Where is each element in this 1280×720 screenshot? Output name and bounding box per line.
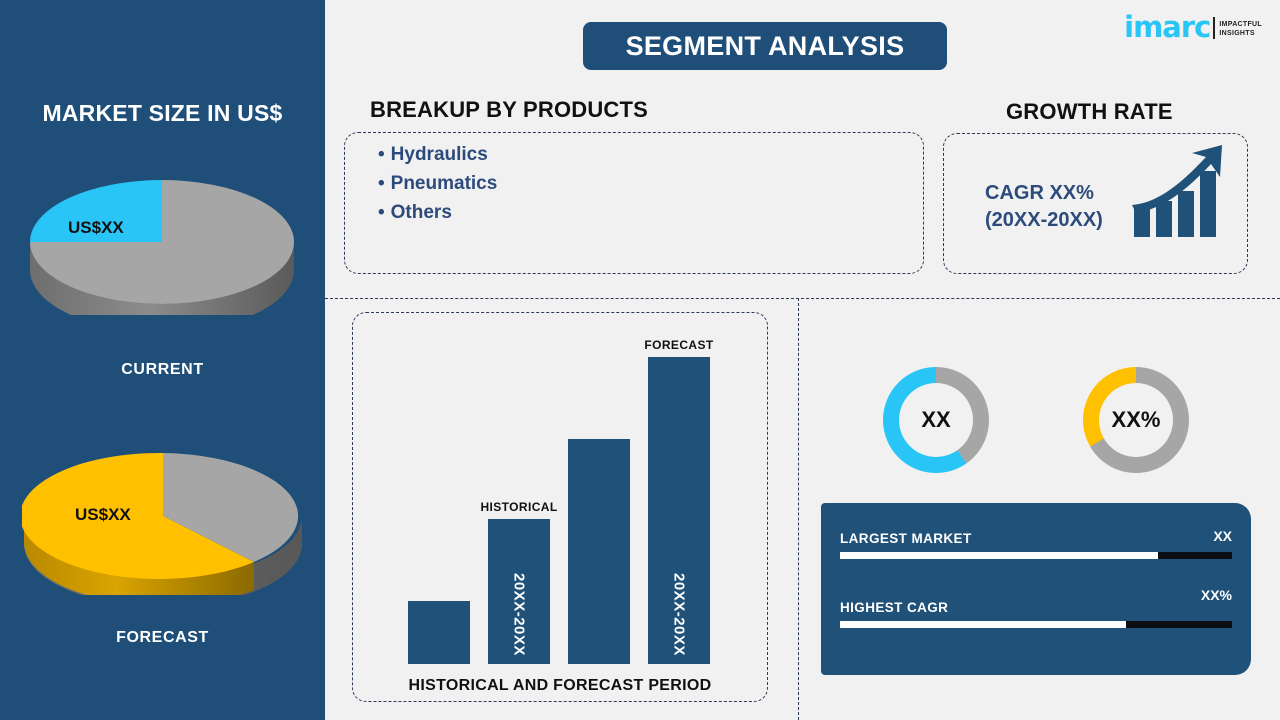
product-label: Others <box>391 202 452 223</box>
bar-period-label: 20XX-20XX <box>511 573 528 656</box>
vertical-divider <box>798 298 799 720</box>
progress-fill <box>840 621 1126 628</box>
table-row <box>568 439 630 664</box>
kpi-value: XX <box>1213 528 1232 544</box>
forecast-annotation: FORECAST <box>638 338 720 352</box>
list-item[interactable]: •Hydraulics <box>378 140 497 169</box>
current-pie-value: US$XX <box>68 218 124 238</box>
list-item[interactable]: •Pneumatics <box>378 169 497 198</box>
kpi-panel: LARGEST MARKET XX HIGHEST CAGR XX% <box>821 503 1251 675</box>
forecast-pie-caption: FORECAST <box>0 629 325 647</box>
growth-arrow-bars-icon <box>1130 143 1230 248</box>
page-title: SEGMENT ANALYSIS <box>626 31 905 62</box>
logo-divider <box>1213 17 1215 39</box>
bullet-icon: • <box>378 173 385 194</box>
table-row: 20XX-20XX <box>488 519 550 664</box>
products-heading: BREAKUP BY PRODUCTS <box>370 97 648 123</box>
progress-track <box>840 552 1232 559</box>
product-label: Pneumatics <box>391 173 498 194</box>
kpi-largest-market: LARGEST MARKET XX <box>840 530 1232 559</box>
progress-track <box>840 621 1232 628</box>
largest-market-donut: XX <box>883 367 989 473</box>
logo-wordmark: imarc <box>1124 14 1210 42</box>
pie-forecast-svg <box>22 443 304 595</box>
chart-x-axis-label: HISTORICAL AND FORECAST PERIOD <box>352 677 768 695</box>
pie-current-svg <box>28 170 296 315</box>
largest-market-donut-value: XX <box>921 407 950 433</box>
product-label: Hydraulics <box>391 144 488 165</box>
products-list: •Hydraulics •Pneumatics •Others <box>378 140 497 227</box>
bullet-icon: • <box>378 202 385 223</box>
cagr-text: CAGR XX% (20XX-20XX) <box>985 180 1103 234</box>
kpi-label: HIGHEST CAGR <box>840 600 948 615</box>
logo-tagline-line2: INSIGHTS <box>1219 29 1262 38</box>
imarc-logo: imarc IMPACTFUL INSIGHTS <box>1124 14 1262 42</box>
forecast-pie-value: US$XX <box>75 505 131 525</box>
cagr-line-2: (20XX-20XX) <box>985 207 1103 234</box>
bullet-icon: • <box>378 144 385 165</box>
market-size-sidebar: MARKET SIZE IN US$ US$XX CU <box>0 0 325 720</box>
table-row: 20XX-20XX <box>648 357 710 664</box>
infographic-slide: MARKET SIZE IN US$ US$XX CU <box>0 0 1280 720</box>
historical-annotation: HISTORICAL <box>476 500 562 514</box>
page-title-banner: SEGMENT ANALYSIS <box>583 22 947 70</box>
progress-fill <box>840 552 1158 559</box>
sidebar-title: MARKET SIZE IN US$ <box>0 100 325 127</box>
kpi-label: LARGEST MARKET <box>840 531 972 546</box>
growth-rate-heading: GROWTH RATE <box>1006 99 1173 125</box>
logo-tagline-line1: IMPACTFUL <box>1219 20 1262 29</box>
bar-period-text: 20XX-20XX <box>671 573 688 656</box>
highest-cagr-donut: XX% <box>1083 367 1189 473</box>
list-item[interactable]: •Others <box>378 198 497 227</box>
logo-tagline: IMPACTFUL INSIGHTS <box>1219 20 1262 39</box>
table-row <box>408 601 470 664</box>
kpi-value: XX% <box>1201 587 1232 603</box>
kpi-highest-cagr: HIGHEST CAGR XX% <box>840 599 1232 628</box>
bar-period-label: 20XX-20XX <box>671 573 688 656</box>
cagr-line-1: CAGR XX% <box>985 180 1103 207</box>
bar-period-text: 20XX-20XX <box>511 573 528 656</box>
horizontal-divider <box>325 298 1280 299</box>
current-market-size-pie: US$XX <box>28 170 296 315</box>
current-pie-caption: CURRENT <box>0 361 325 379</box>
historical-forecast-bar-chart: 20XX-20XX 20XX-20XX HISTORICAL FORECAST … <box>352 312 768 702</box>
forecast-market-size-pie: US$XX <box>22 443 304 595</box>
highest-cagr-donut-value: XX% <box>1112 407 1161 433</box>
